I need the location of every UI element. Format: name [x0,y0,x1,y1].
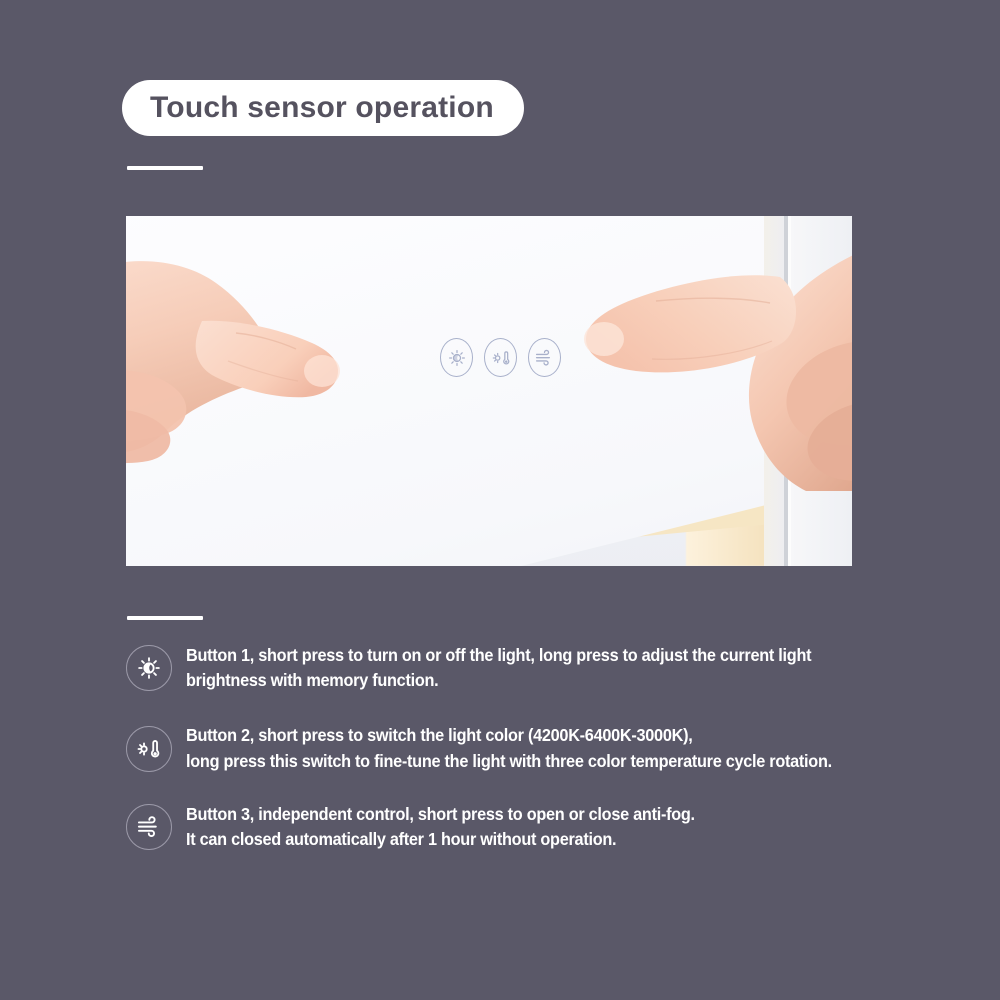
page-title: Touch sensor operation [150,91,494,125]
anti-fog-icon [126,804,172,850]
left-hand-pointing [126,261,416,491]
touch-sensor-photo [126,216,852,566]
color-temperature-icon[interactable] [484,338,517,377]
instruction-row-button-2: Button 2, short press to switch the ligh… [126,723,896,773]
instruction-text-button-3: Button 3, independent control, short pre… [186,802,695,852]
instruction-row-button-3: Button 3, independent control, short pre… [126,802,896,852]
section-divider-middle [127,616,203,620]
instruction-row-button-1: Button 1, short press to turn on or off … [126,643,896,693]
right-hand-pointing [556,241,852,491]
brightness-icon [126,645,172,691]
page-title-pill: Touch sensor operation [122,80,524,136]
instruction-list: Button 1, short press to turn on or off … [126,643,896,874]
color-temperature-icon [126,726,172,772]
instruction-text-button-1: Button 1, short press to turn on or off … [186,643,846,693]
touch-sensor-key-group [440,338,561,377]
brightness-icon[interactable] [440,338,473,377]
section-divider-top [127,166,203,170]
anti-fog-icon[interactable] [528,338,561,377]
instruction-text-button-2: Button 2, short press to switch the ligh… [186,723,832,773]
